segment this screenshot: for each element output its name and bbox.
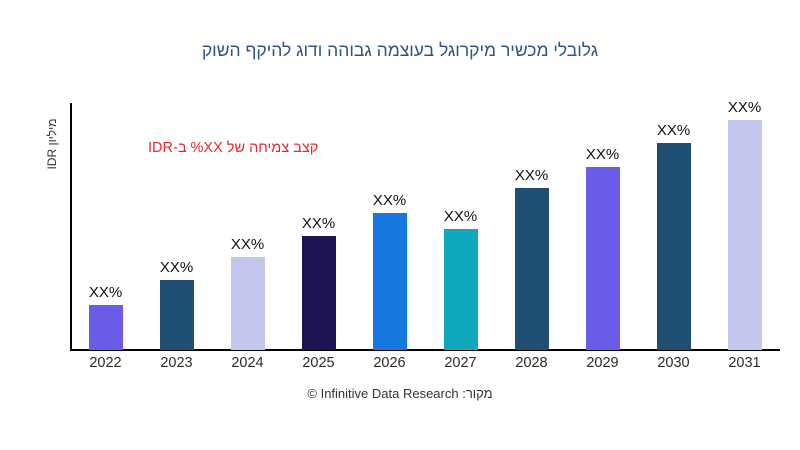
bar-rect-2027[interactable] [444,229,478,350]
bar-rect-2031[interactable] [728,120,762,350]
x-axis-tick-2028: 2028 [501,355,563,371]
growth-rate-annotation: קצב צמיחה של XX% ב-IDR [148,140,318,156]
bar-value-label-2027: XX% [430,208,492,225]
bar-2028[interactable]: XX%2028 [515,188,549,350]
bar-rect-2024[interactable] [231,257,265,350]
y-axis-label: מיליון IDR [45,84,63,204]
bar-series: XX%2022XX%2023XX%2024XX%2025XX%2026XX%20… [0,0,800,450]
bar-value-label-2026: XX% [359,192,421,209]
bar-2030[interactable]: XX%2030 [657,143,691,350]
bar-2029[interactable]: XX%2029 [586,167,620,350]
x-axis-tick-2022: 2022 [75,355,137,371]
x-axis-tick-2023: 2023 [146,355,208,371]
bar-2026[interactable]: XX%2026 [373,213,407,350]
x-axis-tick-2030: 2030 [643,355,705,371]
x-axis-tick-2026: 2026 [359,355,421,371]
x-axis-tick-2029: 2029 [572,355,634,371]
x-axis-tick-2024: 2024 [217,355,279,371]
y-axis-line [70,103,72,351]
x-axis-tick-2025: 2025 [288,355,350,371]
bar-2031[interactable]: XX%2031 [728,120,762,350]
bar-value-label-2022: XX% [75,284,137,301]
x-axis-tick-2031: 2031 [714,355,776,371]
bar-value-label-2029: XX% [572,146,634,163]
bar-2025[interactable]: XX%2025 [302,236,336,350]
bar-value-label-2030: XX% [643,122,705,139]
bar-2027[interactable]: XX%2027 [444,229,478,350]
bar-value-label-2023: XX% [146,259,208,276]
x-axis-tick-2027: 2027 [430,355,492,371]
bar-rect-2029[interactable] [586,167,620,350]
bar-rect-2022[interactable] [89,305,123,350]
bar-rect-2025[interactable] [302,236,336,350]
bar-rect-2030[interactable] [657,143,691,350]
chart-container: גלובלי מכשיר מיקרוגל בעוצמה גבוהה ודוג ל… [0,0,800,450]
bar-rect-2023[interactable] [160,280,194,350]
bar-2023[interactable]: XX%2023 [160,280,194,350]
bar-2022[interactable]: XX%2022 [89,305,123,350]
bar-rect-2028[interactable] [515,188,549,350]
source-note: מקור: Infinitive Data Research © [0,386,800,401]
bar-value-label-2028: XX% [501,167,563,184]
bar-2024[interactable]: XX%2024 [231,257,265,350]
bar-rect-2026[interactable] [373,213,407,350]
bar-value-label-2031: XX% [714,99,776,116]
bar-value-label-2025: XX% [288,215,350,232]
bar-value-label-2024: XX% [217,236,279,253]
chart-title: גלובלי מכשיר מיקרוגל בעוצמה גבוהה ודוג ל… [0,40,800,61]
